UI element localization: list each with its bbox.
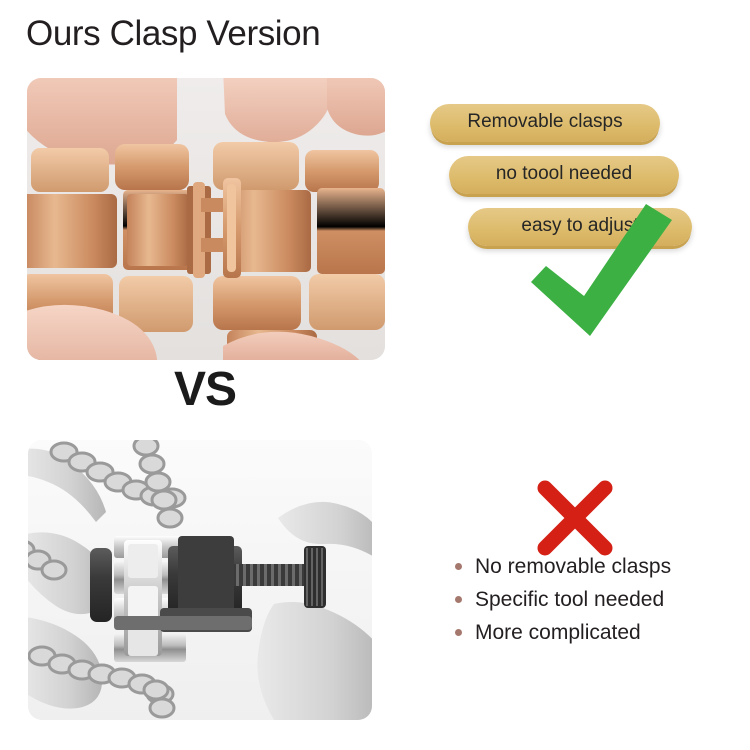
green-check-icon xyxy=(520,200,705,340)
pro-pill-removable-clasps: Removable clasps xyxy=(430,104,660,142)
bullet-dot-icon xyxy=(455,563,462,570)
rose-gold-clasp-illustration xyxy=(27,78,385,360)
rose-gold-clasp-photo xyxy=(27,78,385,360)
con-label: Specific tool needed xyxy=(475,588,664,612)
list-item: Specific tool needed xyxy=(455,583,745,616)
cons-list: No removable clasps Specific tool needed… xyxy=(455,550,745,649)
green-check-shape xyxy=(520,200,705,340)
link-removal-tool-photo xyxy=(28,440,372,720)
pro-pill-no-tool-needed: no toool needed xyxy=(449,156,679,194)
list-item: More complicated xyxy=(455,616,745,649)
page-title: Ours Clasp Version xyxy=(26,14,320,54)
red-cross-icon xyxy=(533,478,617,558)
pro-pill-label: Removable clasps xyxy=(467,111,622,133)
red-cross-shape xyxy=(533,478,617,558)
list-item: No removable clasps xyxy=(455,550,745,583)
con-label: More complicated xyxy=(475,621,641,645)
vs-label: VS xyxy=(0,362,410,417)
bullet-dot-icon xyxy=(455,629,462,636)
bullet-dot-icon xyxy=(455,596,462,603)
link-removal-tool-illustration xyxy=(28,440,372,720)
con-label: No removable clasps xyxy=(475,555,671,579)
pro-pill-label: no toool needed xyxy=(496,163,632,185)
infographic-root: Ours Clasp Version xyxy=(0,0,750,750)
